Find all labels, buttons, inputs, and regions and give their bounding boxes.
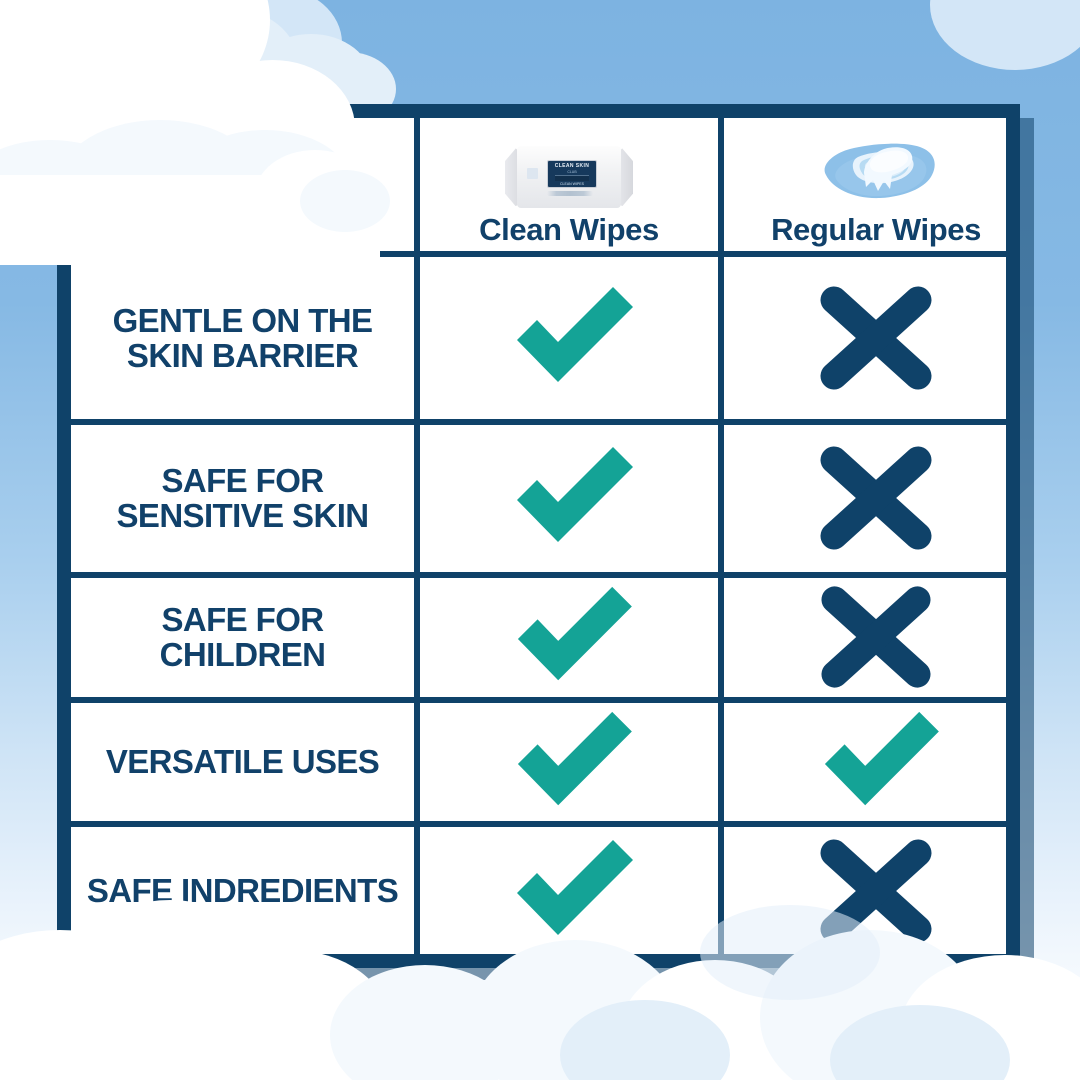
table-row: GENTLE ON THE SKIN BARRIER	[71, 257, 1006, 425]
regular-wipes-cell	[724, 257, 1028, 419]
feature-cell: SAFE FOR CHILDREN	[71, 578, 420, 697]
regular-wipes-cell	[724, 703, 1028, 822]
feature-label: SAFE FOR SENSITIVE SKIN	[85, 463, 400, 534]
column-title-regular-wipes: Regular Wipes	[771, 214, 981, 245]
feature-cell: GENTLE ON THE SKIN BARRIER	[71, 257, 420, 419]
clean-wipes-pack-icon: CLEAN SKIN CLUB CLEAN WIPES	[503, 144, 635, 210]
clean-wipes-cell	[420, 703, 724, 822]
cross-mark-icon	[814, 832, 938, 950]
feature-cell: SAFE FOR SENSITIVE SKIN	[71, 425, 420, 572]
table-row: SAFE INDREDIENTS	[71, 827, 1006, 954]
check-mark-icon	[801, 707, 951, 817]
check-mark-icon	[494, 442, 644, 554]
pack-sub-text: CLUB	[567, 170, 576, 174]
feature-label: SAFE FOR CHILDREN	[85, 602, 400, 673]
header-cell-blank	[71, 118, 420, 251]
header-cell-regular-wipes: Regular Wipes	[724, 118, 1028, 251]
cross-mark-icon	[814, 582, 938, 692]
clean-wipes-cell	[420, 827, 724, 954]
check-mark-icon	[494, 582, 644, 692]
feature-label: SAFE INDREDIENTS	[87, 873, 398, 909]
comparison-infographic: CLEAN SKIN CLUB CLEAN WIPES Clean Wipes	[0, 0, 1080, 1080]
check-mark-icon	[494, 835, 644, 947]
check-mark-icon	[494, 282, 644, 394]
regular-wipes-cell	[724, 827, 1028, 954]
table-row: VERSATILE USES	[71, 703, 1006, 828]
comparison-table: CLEAN SKIN CLUB CLEAN WIPES Clean Wipes	[57, 104, 1020, 968]
check-mark-icon	[494, 707, 644, 817]
regular-wipes-pack-icon	[806, 135, 946, 210]
clean-wipes-cell	[420, 578, 724, 697]
table-row: SAFE FOR SENSITIVE SKIN	[71, 425, 1006, 578]
regular-wipes-cell	[724, 578, 1028, 697]
table-header-row: CLEAN SKIN CLUB CLEAN WIPES Clean Wipes	[71, 118, 1006, 257]
pack-brand-text: CLEAN SKIN	[555, 163, 590, 169]
column-title-clean-wipes: Clean Wipes	[479, 214, 659, 245]
table-row: SAFE FOR CHILDREN	[71, 578, 1006, 703]
header-cell-clean-wipes: CLEAN SKIN CLUB CLEAN WIPES Clean Wipes	[420, 118, 724, 251]
pack-product-text: CLEAN WIPES	[560, 182, 584, 186]
clean-wipes-cell	[420, 425, 724, 572]
cross-mark-icon	[814, 442, 938, 554]
feature-cell: SAFE INDREDIENTS	[71, 827, 420, 954]
clean-wipes-cell	[420, 257, 724, 419]
feature-cell: VERSATILE USES	[71, 703, 420, 822]
feature-label: VERSATILE USES	[106, 744, 379, 780]
cross-mark-icon	[814, 282, 938, 394]
feature-label: GENTLE ON THE SKIN BARRIER	[85, 303, 400, 374]
regular-wipes-cell	[724, 425, 1028, 572]
